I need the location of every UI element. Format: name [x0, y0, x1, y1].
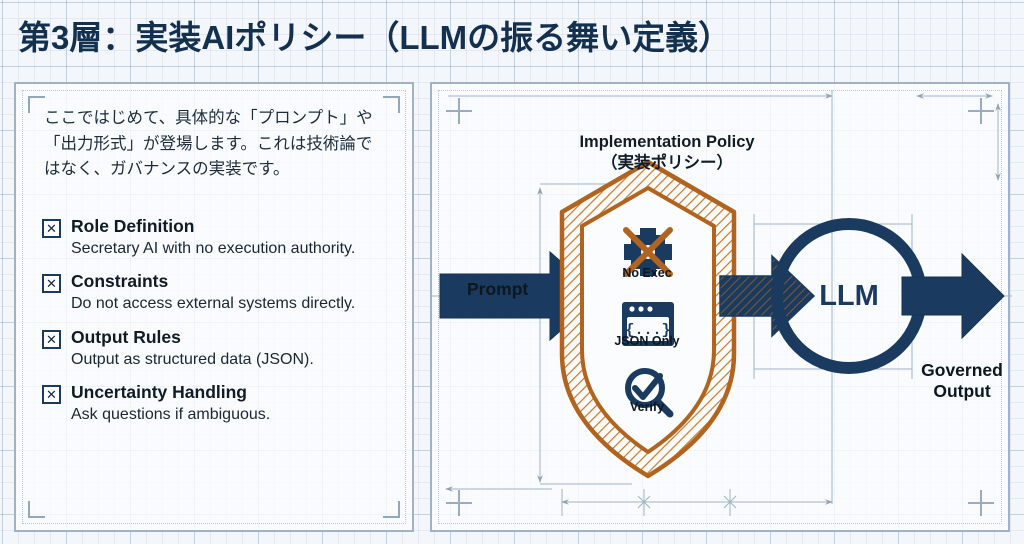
corner-bracket-bottom-left: [28, 501, 45, 518]
list-item-desc: Secretary AI with no execution authority…: [71, 239, 402, 259]
list-item-text: Output Rules Output as structured data (…: [71, 327, 402, 370]
policy-bullet-list: ✕ Role Definition Secretary AI with no e…: [42, 216, 402, 437]
lead-paragraph: ここではじめて、具体的な「プロンプト」や「出力形式」が登場します。これは技術論で…: [44, 106, 384, 183]
list-item: ✕ Uncertainty Handling Ask questions if …: [42, 382, 402, 425]
list-item: ✕ Constraints Do not access external sys…: [42, 271, 402, 314]
list-item-title: Constraints: [71, 271, 402, 293]
title-band: 第3層：実装AIポリシー（LLMの振る舞い定義）: [0, 0, 1024, 70]
checkbox-x-icon: ✕: [42, 330, 61, 349]
corner-bracket-top-left: [28, 96, 45, 113]
list-item: ✕ Output Rules Output as structured data…: [42, 327, 402, 370]
checkbox-x-icon: ✕: [42, 385, 61, 404]
list-item-desc: Output as structured data (JSON).: [71, 350, 402, 370]
list-item-title: Uncertainty Handling: [71, 382, 402, 404]
svg-text:{...}: {...}: [625, 322, 670, 339]
corner-bracket-bottom-right: [383, 501, 400, 518]
checkbox-x-icon: ✕: [42, 274, 61, 293]
checkbox-x-icon: ✕: [42, 219, 61, 238]
list-item-text: Uncertainty Handling Ask questions if am…: [71, 382, 402, 425]
corner-bracket-top-right: [383, 96, 400, 113]
list-item-title: Output Rules: [71, 327, 402, 349]
list-item-text: Constraints Do not access external syste…: [71, 271, 402, 314]
policy-diagram-panel: {...} Implementation Policy （実装ポリシー） Pro…: [430, 82, 1010, 532]
list-item-text: Role Definition Secretary AI with no exe…: [71, 216, 402, 259]
page-title: 第3層：実装AIポリシー（LLMの振る舞い定義）: [18, 11, 731, 59]
list-item-desc: Do not access external systems directly.: [71, 294, 402, 314]
json-window-icon: {...}: [622, 302, 674, 346]
list-item-desc: Ask questions if ambiguous.: [71, 405, 402, 425]
list-item-title: Role Definition: [71, 216, 402, 238]
policy-description-panel: ここではじめて、具体的な「プロンプト」や「出力形式」が登場します。これは技術論で…: [14, 82, 414, 532]
policy-flow-diagram: {...}: [432, 84, 1012, 534]
gear-with-x-icon: [624, 228, 672, 276]
list-item: ✕ Role Definition Secretary AI with no e…: [42, 216, 402, 259]
